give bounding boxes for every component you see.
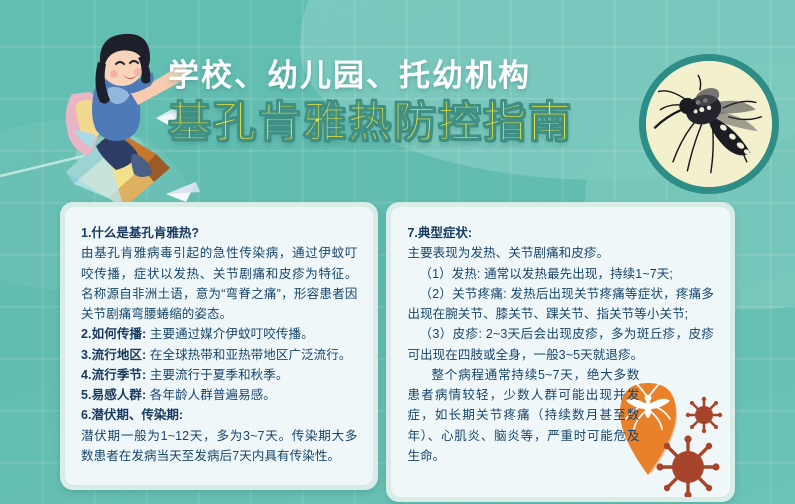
section-2-label: 2.如何传播:: [81, 327, 146, 341]
section-6-heading: 6.潜伏期、传染期:: [81, 405, 357, 425]
section-2-line: 2.如何传播: 主要通过媒介伊蚊叮咬传播。: [81, 324, 357, 344]
right-content-panel: 7.典型症状: 主要表现为发热、关节剧痛和皮疹。 （1）发热: 通常以发热最先出…: [386, 202, 735, 502]
poster-title-block: 学校、幼儿园、托幼机构 基孔肯雅热防控指南: [168, 58, 668, 147]
section-4-label: 4.流行季节:: [81, 368, 146, 382]
section-1-body: 由基孔肯雅病毒引起的急性传染病，通过伊蚊叮咬传播，症状以发热、关节剧痛和皮疹为特…: [81, 243, 357, 324]
right-panel-inner: 7.典型症状: 主要表现为发热、关节剧痛和皮疹。 （1）发热: 通常以发热最先出…: [391, 207, 730, 497]
section-5-label: 5.易感人群:: [81, 388, 146, 402]
title-line-2: 基孔肯雅热防控指南: [168, 100, 668, 147]
section-4-text: 主要流行于夏季和秋季。: [146, 368, 288, 382]
section-4-line: 4.流行季节: 主要流行于夏季和秋季。: [81, 365, 357, 385]
left-panel-inner: 1.什么是基孔肯雅热? 由基孔肯雅病毒引起的急性传染病，通过伊蚊叮咬传播，症状以…: [65, 207, 373, 485]
section-7-intro: 主要表现为发热、关节剧痛和皮疹。: [407, 243, 714, 263]
section-2-text: 主要通过媒介伊蚊叮咬传播。: [146, 327, 313, 341]
symptom-item-rash: （3）皮疹: 2~3天后会出现皮疹，多为斑丘疹，皮疹可出现在四肢或全身，一般3~…: [407, 324, 714, 365]
section-1-heading: 1.什么是基孔肯雅热?: [81, 223, 357, 243]
section-5-text: 各年龄人群普遍易感。: [146, 388, 276, 402]
section-7-heading: 7.典型症状:: [407, 223, 714, 243]
title-line-1: 学校、幼儿园、托幼机构: [168, 58, 668, 94]
symptom-item-fever: （1）发热: 通常以发热最先出现，持续1~7天;: [407, 264, 714, 284]
section-3-text: 在全球热带和亚热带地区广泛流行。: [146, 348, 351, 362]
left-content-panel: 1.什么是基孔肯雅热? 由基孔肯雅病毒引起的急性传染病，通过伊蚊叮咬传播，症状以…: [60, 202, 378, 490]
section-3-line: 3.流行地区: 在全球热带和亚热带地区广泛流行。: [81, 345, 357, 365]
section-6-body: 潜伏期一般为1~12天，多为3~7天。传染期大多数患者在发病当天至发病后7天内具…: [81, 426, 357, 467]
section-7-outro: 整个病程通常持续5~7天，绝大多数患者病情较轻，少数人群可能出现并发症，如长期关…: [407, 365, 639, 466]
infographic-poster: 学校、幼儿园、托幼机构 基孔肯雅热防控指南: [0, 0, 795, 504]
section-5-line: 5.易感人群: 各年龄人群普遍易感。: [81, 385, 357, 405]
symptom-item-joint-pain: （2）关节疼痛: 发热后出现关节疼痛等症状，疼痛多出现在腕关节、膝关节、踝关节、…: [407, 284, 714, 325]
aedes-mosquito-photo-badge: [639, 54, 779, 194]
content-panels: 1.什么是基孔肯雅热? 由基孔肯雅病毒引起的急性传染病，通过伊蚊叮咬传播，症状以…: [60, 202, 735, 502]
section-3-label: 3.流行地区:: [81, 348, 146, 362]
